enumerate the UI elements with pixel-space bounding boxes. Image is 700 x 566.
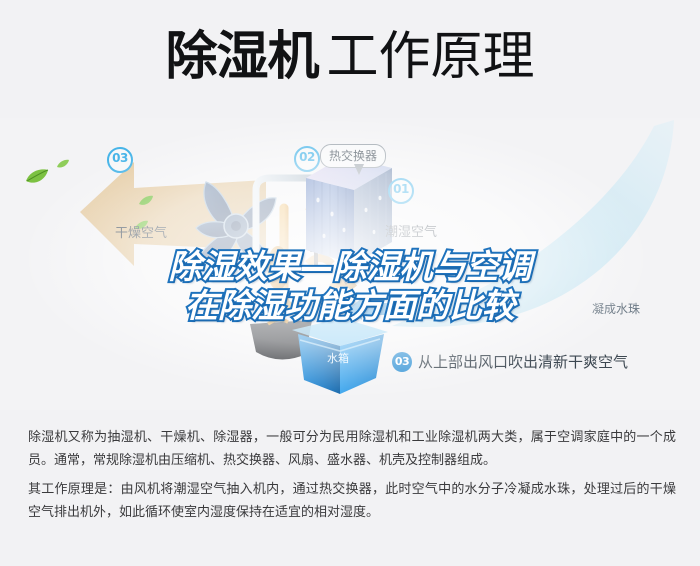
body-text-section: 除湿机又称为抽湿机、干燥机、除湿器，一般可分为民用除湿机和工业除湿机两大类，属于… <box>0 410 700 566</box>
callout-bubble-tail <box>354 164 364 175</box>
callout-label-humid-air: 潮湿空气 <box>385 221 437 240</box>
callout-badge-01-humid-air: 01 <box>388 178 414 204</box>
condensation-label: 凝成水珠 <box>592 300 640 317</box>
callout-badge-03-dry-air: 03 <box>107 147 133 173</box>
header-banner: 除湿机工作原理 <box>0 0 700 118</box>
bottom-note-row: 03 从上部出风口吹出清新干爽空气 <box>392 351 628 372</box>
water-tank-label: 水箱 <box>327 350 349 366</box>
bottom-note-badge-03: 03 <box>392 352 412 372</box>
page-title-secondary: 工作原理 <box>327 27 535 87</box>
leaf-icon <box>24 168 50 190</box>
callout-badge-02-heat-exchanger: 02 <box>294 146 320 172</box>
bottom-note-text: 从上部出风口吹出清新干爽空气 <box>418 351 628 372</box>
dehumidifier-infographic-page: 除湿机工作原理 <box>0 0 700 566</box>
page-title: 除湿机工作原理 <box>0 27 700 87</box>
illustration-stage: 03 干燥空气 02 热交换器 01 潮湿空气 水箱 凝成水珠 03 从上部出风… <box>0 118 700 410</box>
body-paragraph-1: 除湿机又称为抽湿机、干燥机、除湿器，一般可分为民用除湿机和工业除湿机两大类，属于… <box>28 426 676 472</box>
leaf-icon <box>56 154 70 173</box>
heat-exchanger-graphic <box>300 154 396 274</box>
leaf-icon <box>138 192 154 211</box>
callout-label-dry-air: 干燥空气 <box>115 222 167 241</box>
intake-arrow-icon <box>348 298 388 320</box>
body-paragraph-2: 其工作原理是：由风机将潮湿空气抽入机内，通过热交换器，此时空气中的水分子冷凝成水… <box>28 478 676 524</box>
callout-label-heat-exchanger: 热交换器 <box>320 144 386 168</box>
page-title-primary: 除湿机 <box>165 27 318 87</box>
